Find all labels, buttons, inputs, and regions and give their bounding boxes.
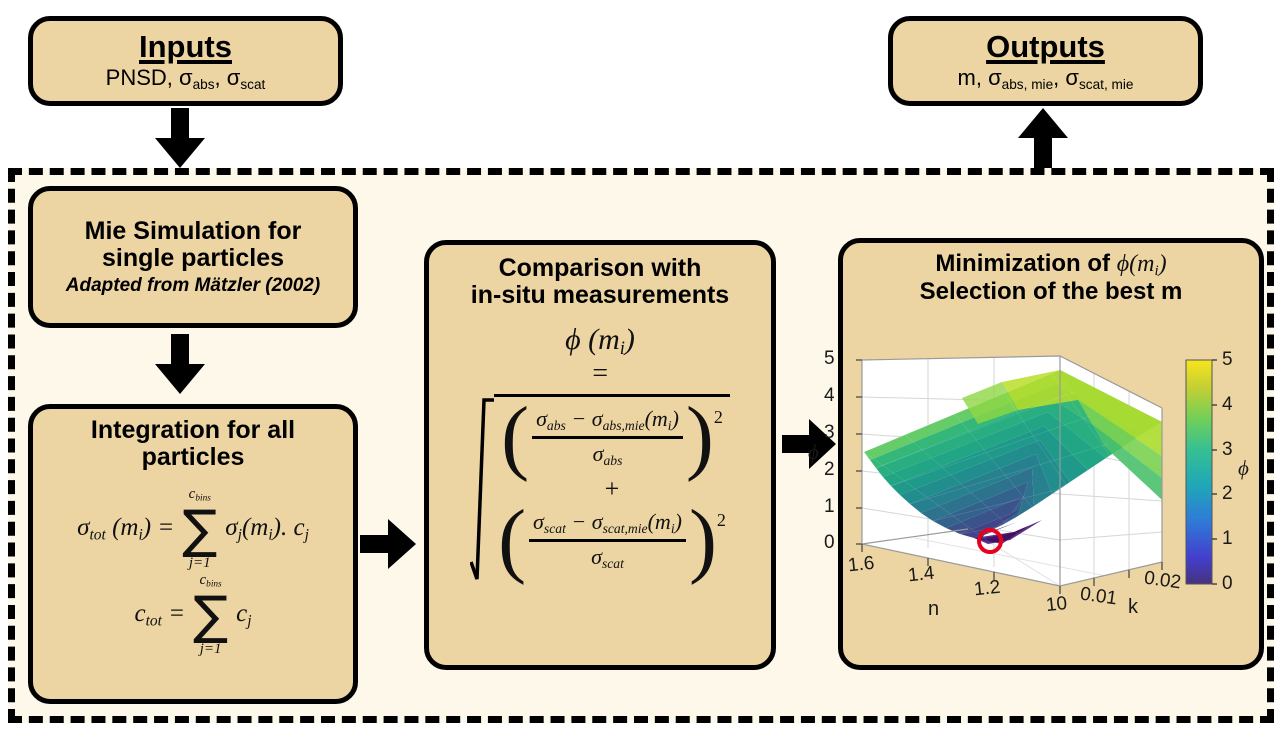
left-paren-1: (: [501, 403, 529, 472]
outputs-title: Outputs: [986, 31, 1105, 62]
colorbar-tick-1: 1: [1222, 528, 1233, 550]
minimization-title-line2: Selection of the best m: [920, 278, 1183, 305]
eq1-summation: cbins ∑ j=1: [182, 487, 217, 571]
z-tick-3: 3: [824, 422, 835, 444]
exponent-scat: 2: [717, 510, 726, 531]
sigma-symbol: σ: [179, 65, 193, 90]
inputs-scat-sub: scat: [240, 77, 265, 92]
sigma-symbol-2: , σ: [215, 65, 241, 90]
comparison-title: Comparison with in-situ measurements: [471, 255, 729, 309]
eq1-sum-lower: j=1: [189, 556, 211, 571]
comparison-title-line2: in-situ measurements: [471, 281, 729, 309]
left-paren-2: (: [498, 506, 526, 575]
x-tick-1-2: 1.2: [973, 577, 1002, 602]
inputs-abs-sub: abs: [193, 77, 215, 92]
integration-equation-2: ctot = cbins ∑ j=1 cj: [134, 573, 251, 657]
mie-title-line1: Mie Simulation for: [85, 217, 302, 245]
summation-icon-2: ∑: [193, 590, 228, 642]
fraction-abs-denominator: σabs: [532, 436, 683, 469]
colorbar-tick-2: 2: [1222, 483, 1233, 505]
mie-citation: Adapted from Mätzler (2002): [66, 275, 320, 297]
eq1-rhs: σj(mi). cj: [225, 514, 309, 544]
inputs-pnsd: PNSD,: [106, 65, 179, 90]
x-tick-1-6: 1.6: [847, 553, 876, 578]
cost-function-expression: ( σabs − σabs,mie(mi) σabs ) 2 + ( σscat…: [437, 394, 763, 577]
x-axis-label: n: [928, 598, 939, 621]
mie-simulation-box: Mie Simulation for single particles Adap…: [28, 186, 358, 328]
summation-icon: ∑: [182, 504, 217, 556]
integration-box: Integration for all particles σtot (mi) …: [28, 404, 358, 704]
eq2-summation: cbins ∑ j=1: [193, 573, 228, 657]
term-abs: ( σabs − σabs,mie(mi) σabs ) 2: [498, 403, 726, 472]
fraction-scat-denominator: σscat: [529, 539, 686, 572]
square-root-icon: [470, 394, 494, 577]
outputs-m: m,: [958, 65, 989, 90]
fraction-abs-numerator: σabs − σabs,mie(mi): [532, 406, 683, 436]
eq2-lhs: ctot =: [134, 600, 185, 630]
colorbar-tick-5: 5: [1222, 349, 1233, 371]
colorbar-tick-0: 0: [1222, 573, 1233, 595]
colorbar-tick-4: 4: [1222, 394, 1233, 416]
z-tick-4: 4: [824, 385, 835, 407]
minimization-title-line1: Minimization of ϕ(mi): [935, 250, 1166, 277]
comparison-title-line1: Comparison with: [499, 254, 702, 282]
phi-function-label: ϕ (mi): [565, 323, 635, 360]
integration-title-line2: particles: [142, 443, 245, 471]
outputs-items: m, σabs, mie, σscat, mie: [958, 67, 1134, 91]
fraction-scat: σscat − σscat,mie(mi) σscat: [526, 506, 689, 575]
fraction-scat-numerator: σscat − σscat,mie(mi): [529, 509, 686, 539]
eq2-rhs: cj: [236, 600, 251, 630]
arrow-right-integration-to-comparison: [360, 516, 418, 577]
x-tick-1-0: 10: [1045, 593, 1068, 617]
inputs-title: Inputs: [139, 31, 232, 62]
colorbar-ticks: [1212, 360, 1217, 584]
term-scat: ( σscat − σscat,mie(mi) σscat ) 2: [498, 506, 726, 575]
integration-title-line1: Integration for all: [91, 416, 295, 444]
sigma-symbol-4: , σ: [1053, 65, 1079, 90]
arrow-down-mie-to-integration: [152, 334, 208, 401]
exponent-abs: 2: [714, 407, 723, 428]
inputs-items: PNSD, σabs, σscat: [106, 67, 266, 91]
integration-title: Integration for all particles: [91, 417, 295, 471]
colorbar-label: ϕ: [1238, 456, 1249, 481]
z-tick-2: 2: [824, 459, 835, 481]
z-axis-label: ϕ: [808, 440, 819, 465]
fraction-abs: σabs − σabs,mie(mi) σabs: [529, 403, 686, 472]
y-axis-label: k: [1128, 596, 1138, 619]
z-tick-5: 5: [824, 348, 835, 370]
arrow-down-inputs-to-mie: [152, 108, 208, 175]
x-tick-1-4: 1.4: [907, 563, 936, 588]
comparison-box: Comparison with in-situ measurements ϕ (…: [424, 240, 776, 670]
right-paren-1: ): [686, 403, 714, 472]
colorbar: [1186, 360, 1212, 584]
z-axis-ticks: [856, 360, 862, 544]
eq2-sum-lower: j=1: [200, 642, 222, 657]
radicand: ( σabs − σabs,mie(mi) σabs ) 2 + ( σscat…: [494, 394, 730, 577]
inputs-box: Inputs PNSD, σabs, σscat: [28, 16, 343, 106]
z-tick-1: 1: [824, 496, 835, 518]
arrow-up-minimization-to-outputs: [1015, 108, 1071, 175]
integration-equation-1: σtot (mi) = cbins ∑ j=1 σj(mi). cj: [77, 487, 309, 571]
surface-plot: 5 4 3 2 1 0 ϕ 1.6 1.4 1.2 10 n 0.01 0.02…: [842, 348, 1262, 660]
eq1-lhs: σtot (mi) =: [77, 514, 174, 544]
minimization-title: Minimization of ϕ(mi) Selection of the b…: [920, 251, 1183, 305]
equals-sign: =: [591, 358, 610, 390]
outputs-scatmie-sub: scat, mie: [1079, 77, 1134, 92]
mie-title: Mie Simulation for single particles: [85, 218, 302, 272]
sigma-symbol-3: σ: [988, 65, 1002, 90]
colorbar-tick-3: 3: [1222, 439, 1233, 461]
mie-title-line2: single particles: [102, 244, 284, 272]
outputs-box: Outputs m, σabs, mie, σscat, mie: [888, 16, 1203, 106]
outputs-absmie-sub: abs, mie: [1002, 77, 1054, 92]
z-tick-0: 0: [824, 532, 835, 554]
right-paren-2: ): [689, 506, 717, 575]
